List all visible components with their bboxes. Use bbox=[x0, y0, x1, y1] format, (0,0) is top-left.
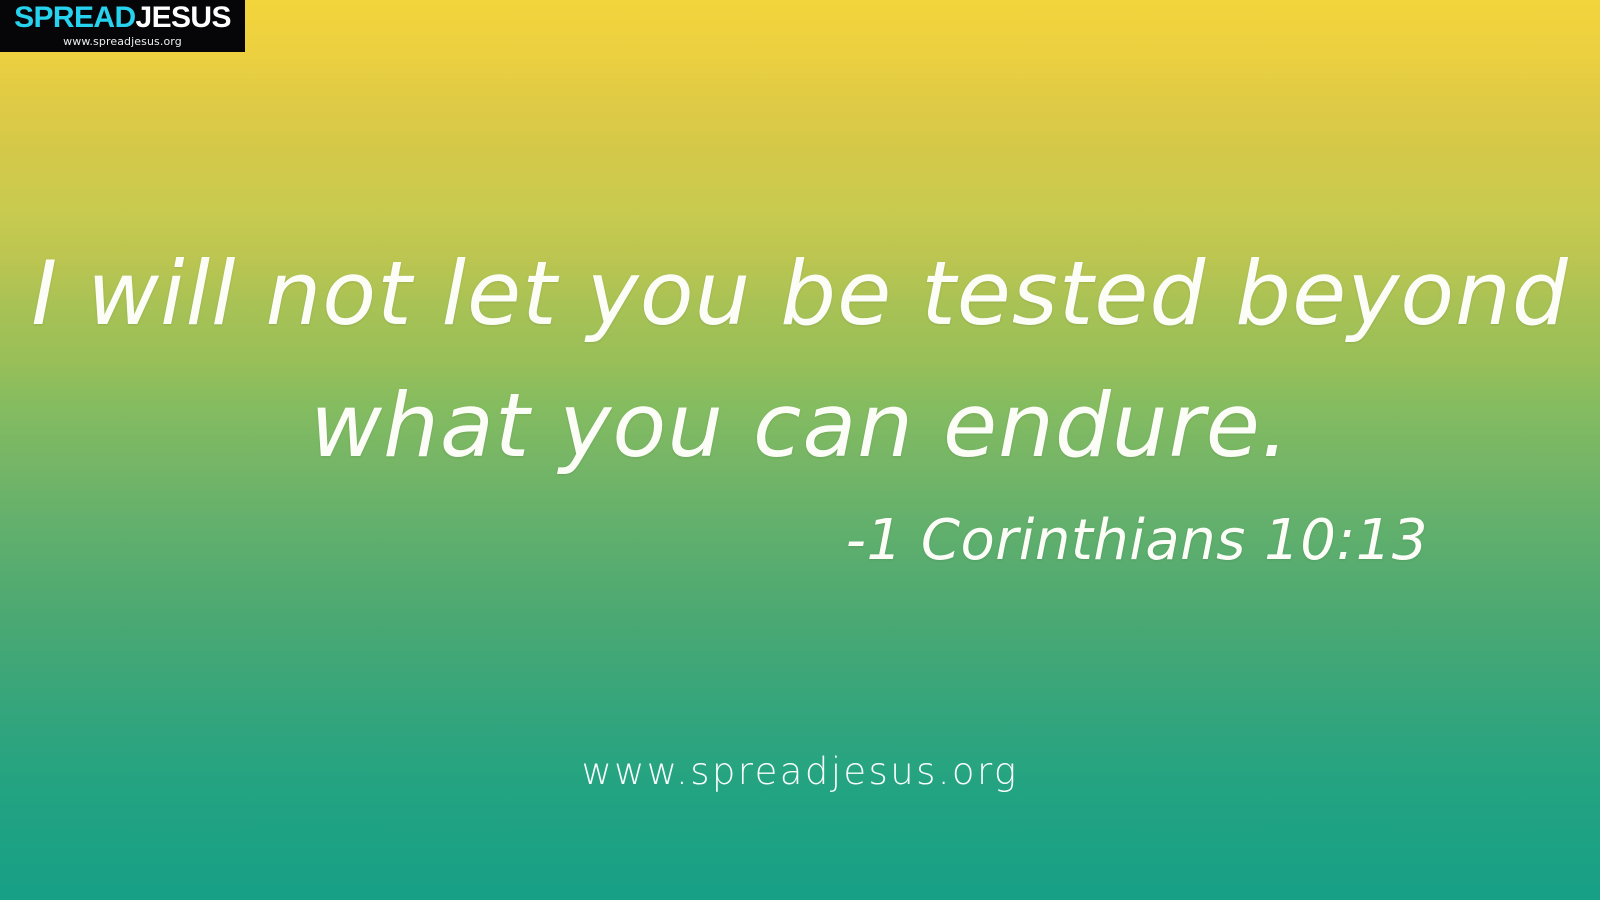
brand-wordmark-jesus: JESUS bbox=[136, 1, 231, 34]
brand-watermark-plate: SPREADJESUS www.spreadjesus.org bbox=[0, 0, 245, 52]
verse-reference: -1 Corinthians 10:13 bbox=[0, 505, 1600, 577]
brand-wordmark: SPREADJESUS bbox=[14, 1, 231, 34]
verse-text-block: I will not let you be tested beyond what… bbox=[0, 225, 1600, 495]
verse-line-2: what you can endure. bbox=[0, 357, 1600, 495]
footer-site-url: www.spreadjesus.org bbox=[0, 748, 1600, 796]
brand-wordmark-spread: SPREAD bbox=[14, 1, 135, 34]
brand-url-label: www.spreadjesus.org bbox=[63, 35, 182, 48]
wallpaper-canvas: SPREADJESUS www.spreadjesus.org I will n… bbox=[0, 0, 1600, 900]
verse-line-1: I will not let you be tested beyond bbox=[0, 225, 1600, 363]
